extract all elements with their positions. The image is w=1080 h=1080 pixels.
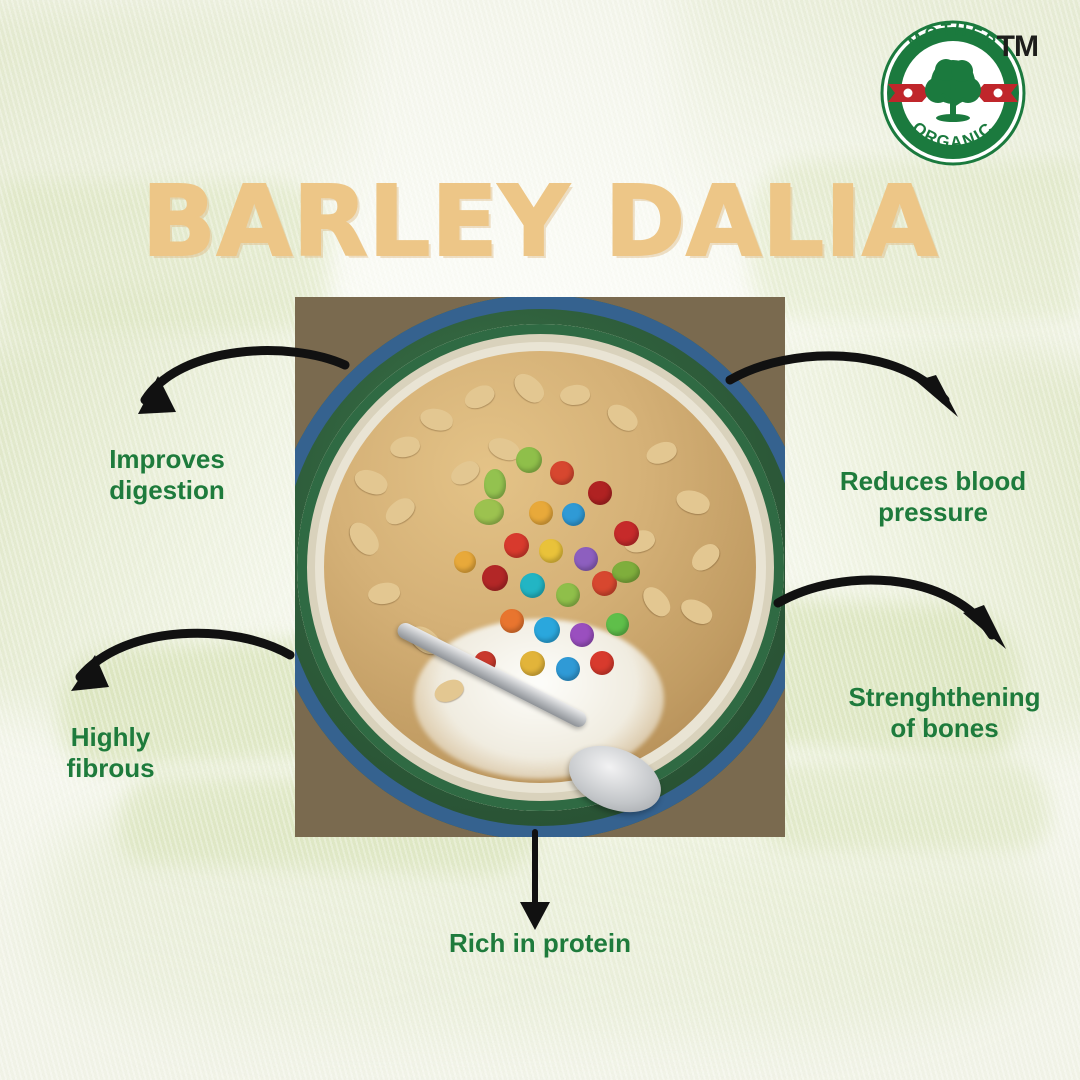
benefit-improves-digestion: Improves digestion — [52, 444, 282, 506]
brand-logo: MOTHER ORGANIC TM — [878, 18, 1028, 168]
arrow-reduces-blood-pressure — [720, 345, 980, 455]
benefit-rich-in-protein: Rich in protein — [0, 928, 1080, 959]
benefit-line: Rich in protein — [0, 928, 1080, 959]
benefit-line: digestion — [52, 475, 282, 506]
product-photo — [295, 297, 785, 837]
benefit-reduces-blood-pressure: Reduces blood pressure — [808, 466, 1058, 528]
poster-canvas: MOTHER ORGANIC TM BARLEY DALIA — [0, 0, 1080, 1080]
arrow-strengthening-of-bones — [770, 565, 1030, 675]
arrow-highly-fibrous — [55, 615, 305, 725]
benefit-strengthening-of-bones: Strenghthening of bones — [827, 682, 1062, 744]
page-title: BARLEY DALIA — [0, 165, 1080, 278]
trademark-symbol: TM — [997, 30, 1038, 64]
benefit-line: Highly — [18, 722, 203, 753]
arrow-improves-digestion — [120, 340, 360, 450]
benefit-line: Improves — [52, 444, 282, 475]
bowl-contents — [324, 351, 756, 783]
benefit-line: Strenghthening — [827, 682, 1062, 713]
benefit-line: of bones — [827, 713, 1062, 744]
arrow-rich-in-protein — [505, 832, 575, 937]
benefit-highly-fibrous: Highly fibrous — [18, 722, 203, 784]
benefit-line: fibrous — [18, 753, 203, 784]
benefit-line: Reduces blood — [808, 466, 1058, 497]
benefit-line: pressure — [808, 497, 1058, 528]
